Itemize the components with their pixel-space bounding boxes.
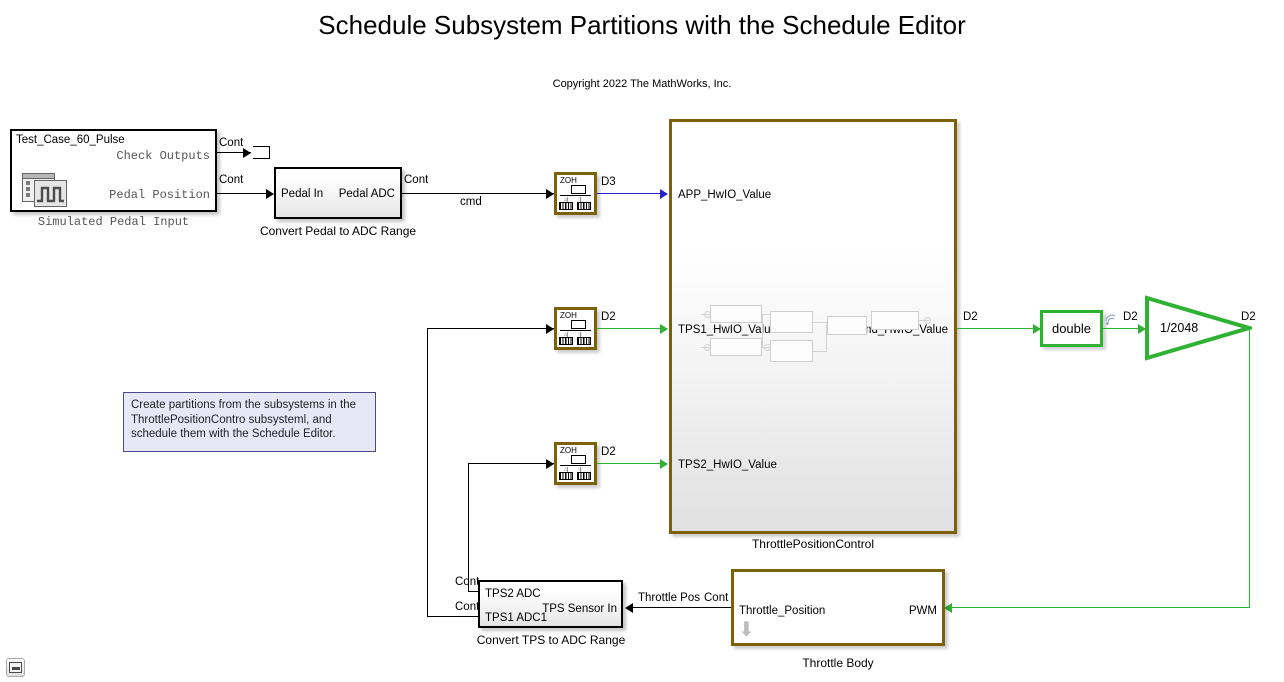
- signal-rate-zoh-app: D3: [601, 176, 616, 188]
- down-arrow-icon: ⬇: [738, 620, 755, 640]
- signal-rate-tpc-out: D2: [963, 311, 978, 323]
- simulink-model-canvas: Schedule Subsystem Partitions with the S…: [0, 0, 1284, 682]
- outport-label-check-outputs: Check Outputs: [116, 149, 210, 163]
- signal-throttle-pos[interactable]: [633, 607, 731, 608]
- copyright-notice: Copyright 2022 The MathWorks, Inc.: [0, 78, 1284, 90]
- inport-label-app-hwio-value: APP_HwIO_Value: [678, 189, 771, 201]
- signal-tps1-adc-stub[interactable]: [427, 616, 479, 617]
- block-convert-tps-to-adc-range[interactable]: TPS2 ADC TPS1 ADC1 TPS Sensor In: [478, 580, 623, 628]
- arrow-app-hwio: [660, 189, 668, 199]
- signal-rate-pedal-adc: Cont: [404, 174, 428, 186]
- arrow-tps1-hwio: [660, 324, 668, 334]
- signal-rate-zoh-tps1: D2: [601, 311, 616, 323]
- signal-tps1-hwio[interactable]: [597, 328, 667, 329]
- signal-viewer-icon[interactable]: [1104, 313, 1117, 329]
- inport-label-tps2-hwio-value: TPS2_HwIO_Value: [678, 459, 777, 471]
- signal-rate-throttle-pos: Cont: [704, 592, 728, 604]
- signal-tps1-adc-vertical[interactable]: [427, 328, 428, 617]
- block-label-convert-tps-to-adc-range: Convert TPS to ADC Range: [475, 633, 627, 647]
- zoh-label-app: ZOH: [560, 176, 577, 185]
- signal-editor-icon: [22, 173, 70, 214]
- zoh-label-tps1: ZOH: [560, 311, 577, 320]
- inport-label-throttle-position: Throttle_Position: [739, 605, 825, 617]
- signal-rate-check-outputs: Cont: [219, 137, 243, 149]
- arrow-tps1-adc: [546, 324, 554, 334]
- signal-rate-gain-out: D2: [1241, 311, 1256, 323]
- collapse-icon: [9, 662, 22, 673]
- inport-label-pedal-in: Pedal In: [281, 188, 323, 200]
- page-title: Schedule Subsystem Partitions with the S…: [0, 10, 1284, 41]
- signal-tps2-hwio[interactable]: [597, 463, 667, 464]
- inport-label-tps-sensor-in: TPS Sensor In: [542, 603, 617, 615]
- signal-rate-pedal-position: Cont: [219, 174, 243, 186]
- signal-tps2-adc-horizontal[interactable]: [468, 463, 554, 464]
- signal-rate-dtc-out: D2: [1123, 311, 1138, 323]
- block-simulated-pedal-input[interactable]: Test_Case_60_Pulse Check Outputs Pedal P…: [10, 129, 217, 212]
- outport-label-pwm: PWM: [909, 605, 937, 617]
- outport-label-tps1-adc1: TPS1 ADC1: [485, 612, 547, 624]
- signal-pedal-position[interactable]: [217, 193, 273, 194]
- signal-tps2-adc-stub[interactable]: [468, 591, 479, 592]
- signal-label-cmd: cmd: [460, 196, 482, 208]
- block-label-throttle-body: Throttle Body: [731, 656, 945, 670]
- arrow-pedal-position: [266, 189, 274, 199]
- signal-pwm-feedback-horizontal[interactable]: [952, 607, 1250, 608]
- scenario-label: Test_Case_60_Pulse: [16, 134, 125, 146]
- block-convert-pedal-to-adc-range[interactable]: Pedal In Pedal ADC: [274, 167, 402, 219]
- outport-label-tps2-adc: TPS2 ADC: [485, 588, 541, 600]
- signal-pwm-feedback-vertical[interactable]: [1249, 328, 1250, 608]
- signal-thrcmd-hwio[interactable]: [957, 328, 1041, 329]
- arrow-check-outputs: [243, 148, 251, 158]
- zoh-label-tps2: ZOH: [560, 446, 577, 455]
- data-type-conversion-label: double: [1043, 313, 1100, 344]
- block-gain[interactable]: 1/2048: [1144, 295, 1252, 361]
- block-label-convert-pedal-to-adc-range: Convert Pedal to ADC Range: [258, 224, 418, 238]
- arrow-tps2-hwio: [660, 459, 668, 469]
- arrow-tps2-adc: [546, 459, 554, 469]
- collapse-panel-button[interactable]: [6, 658, 25, 677]
- arrow-pwm-feedback: [944, 603, 952, 613]
- block-throttle-position-control[interactable]: APP_HwIO_Value TPS1_HwIO_Value TPS2_HwIO…: [669, 119, 957, 534]
- block-zoh-app[interactable]: ZOH ▵ ☆: [554, 172, 597, 215]
- block-zoh-tps2[interactable]: ZOH ▵ ☆: [554, 442, 597, 485]
- block-label-simulated-pedal-input: Simulated Pedal Input: [10, 215, 217, 229]
- block-label-throttle-position-control: ThrottlePositionControl: [669, 537, 957, 551]
- signal-cmd[interactable]: [402, 193, 554, 194]
- block-zoh-tps1[interactable]: ZOH ▵ ☆: [554, 307, 597, 350]
- block-throttle-body[interactable]: Throttle_Position PWM ⬇: [731, 569, 945, 646]
- arrow-throttle-pos: [625, 603, 633, 613]
- signal-tps1-adc-horizontal[interactable]: [427, 328, 554, 329]
- annotation-note[interactable]: Create partitions from the subsystems in…: [123, 392, 376, 452]
- outport-label-pedal-position: Pedal Position: [109, 188, 210, 202]
- gain-label: 1/2048: [1160, 321, 1198, 335]
- signal-tps2-adc-vertical[interactable]: [468, 463, 469, 592]
- signal-rate-zoh-tps2: D2: [601, 446, 616, 458]
- block-data-type-conversion-double[interactable]: double: [1040, 310, 1103, 347]
- arrow-cmd: [546, 189, 554, 199]
- signal-rate-tps1-adc: Cont: [455, 601, 479, 613]
- signal-label-throttle-pos: Throttle Pos: [638, 592, 700, 604]
- signal-app-hwio[interactable]: [597, 193, 667, 194]
- outport-label-pedal-adc: Pedal ADC: [339, 188, 395, 200]
